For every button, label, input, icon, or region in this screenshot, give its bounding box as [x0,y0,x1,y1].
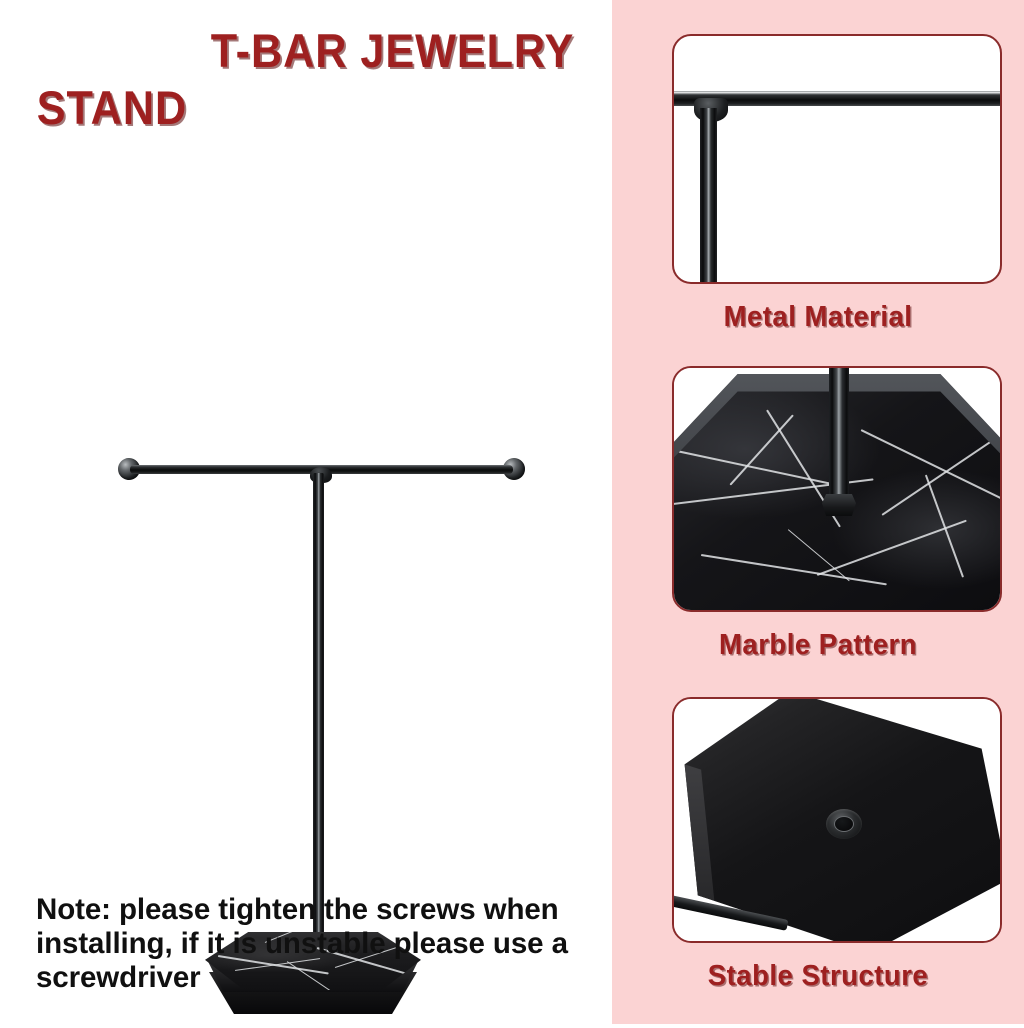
product-infographic: T-BAR JEWELRY STAND [0,0,1024,1024]
title-line-1: T-BAR JEWELRY [48,26,600,75]
product-illustration [0,215,612,835]
feature-label-marble-pattern: Marble Pattern [622,629,1013,662]
page-title: T-BAR JEWELRY STAND [0,26,600,133]
feature-card-stable-structure[interactable] [672,697,1002,943]
feature-card-metal-material[interactable] [672,34,1002,284]
feature-label-metal-material: Metal Material [622,301,1013,334]
detail-vertical-post [700,108,717,284]
installation-note: Note: please tighten the screws when ins… [36,893,592,996]
feature-label-stable-structure: Stable Structure [622,960,1013,993]
detail-pole-nut [822,494,856,516]
detail-screw-inner [834,816,854,832]
title-line-2: STAND [0,83,552,132]
detail-marble-photo [674,368,1000,610]
detail-pole [829,366,849,508]
hero-panel: T-BAR JEWELRY STAND [0,0,612,1024]
vertical-post [313,473,324,953]
feature-panel: Metal Material [612,0,1024,1024]
detail-underside-photo [674,699,1000,941]
feature-card-marble-pattern[interactable] [672,366,1002,612]
